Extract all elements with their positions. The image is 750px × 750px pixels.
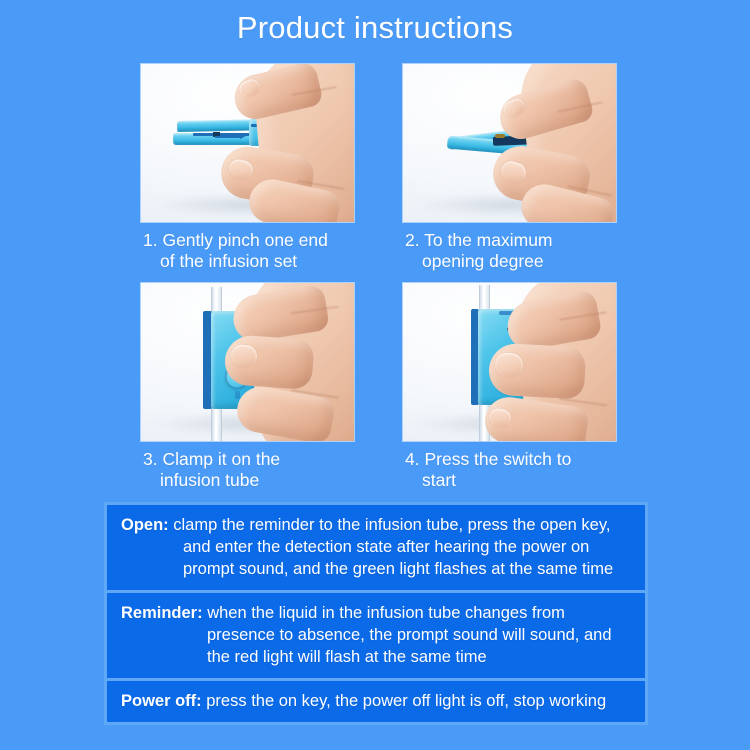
step-4-photo xyxy=(403,283,616,441)
info-box-open-body: clamp the reminder to the infusion tube,… xyxy=(169,516,614,578)
step-1: 1. Gently pinch one end of the infusion … xyxy=(141,64,354,272)
step-2-caption-line1: 2. To the maximum xyxy=(405,230,553,250)
clip-arrow-head xyxy=(240,133,246,139)
step-4-caption-line2: start xyxy=(405,470,616,491)
step-3-caption-line2: infusion tube xyxy=(143,470,354,491)
step-1-caption-line2: of the infusion set xyxy=(143,251,354,272)
step-2: 2. To the maximum opening degree xyxy=(403,64,616,272)
info-box-reminder: Reminder: when the liquid in the infusio… xyxy=(104,590,648,678)
info-boxes: Open: clamp the reminder to the infusion… xyxy=(104,502,648,725)
step-4: 4. Press the switch to start xyxy=(403,283,616,491)
info-box-power-off: Power off: press the on key, the power o… xyxy=(104,678,648,725)
page-title: Product instructions xyxy=(0,8,750,48)
info-box-power-off-label: Power off: xyxy=(121,692,202,710)
info-box-power-off-text: Power off: press the on key, the power o… xyxy=(121,690,633,712)
step-1-caption-line1: 1. Gently pinch one end xyxy=(143,230,328,250)
info-box-open: Open: clamp the reminder to the infusion… xyxy=(104,502,648,590)
step-4-caption: 4. Press the switch to start xyxy=(403,449,616,491)
button-label-mark xyxy=(235,391,240,399)
info-box-power-off-body: press the on key, the power off light is… xyxy=(202,692,606,710)
step-3-caption-line1: 3. Clamp it on the xyxy=(143,449,280,469)
step-1-photo xyxy=(141,64,354,222)
info-box-reminder-text: Reminder: when the liquid in the infusio… xyxy=(121,602,633,668)
step-2-caption: 2. To the maximum opening degree xyxy=(403,230,616,272)
info-box-open-text: Open: clamp the reminder to the infusion… xyxy=(121,514,633,580)
steps-grid: 1. Gently pinch one end of the infusion … xyxy=(141,64,616,444)
step-1-caption: 1. Gently pinch one end of the infusion … xyxy=(141,230,354,272)
step-2-caption-line2: opening degree xyxy=(405,251,616,272)
step-4-caption-line1: 4. Press the switch to xyxy=(405,449,571,469)
info-box-reminder-label: Reminder: xyxy=(121,604,203,622)
step-2-photo xyxy=(403,64,616,222)
step-3-photo xyxy=(141,283,354,441)
step-3-caption: 3. Clamp it on the infusion tube xyxy=(141,449,354,491)
info-box-reminder-body: when the liquid in the infusion tube cha… xyxy=(203,604,612,666)
step-3: 3. Clamp it on the infusion tube xyxy=(141,283,354,491)
info-box-open-label: Open: xyxy=(121,516,169,534)
infographic-page: Product instructions xyxy=(0,0,750,750)
clip-arrow-line xyxy=(215,136,241,138)
clip-hinge-pin xyxy=(495,134,505,138)
